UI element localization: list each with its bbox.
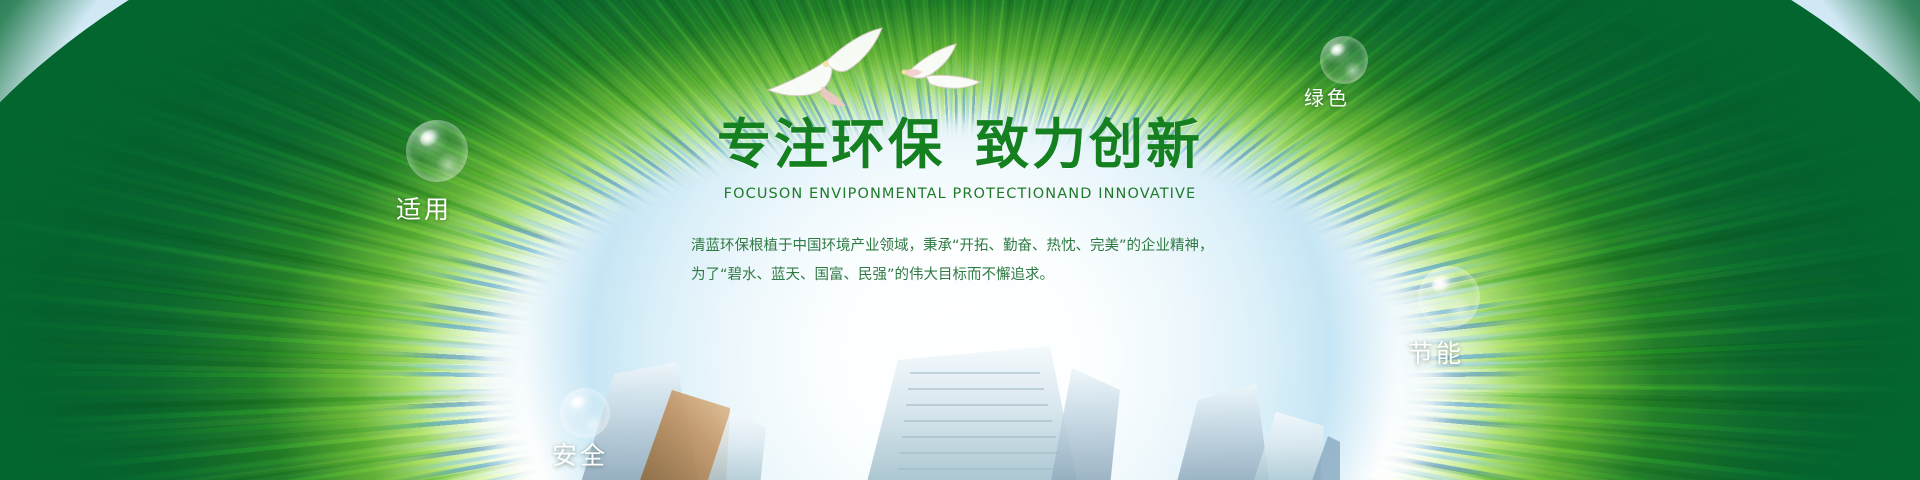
subtitle-english: FOCUSON ENVIPONMENTAL PROTECTIONAND INNO…: [0, 186, 1920, 202]
headline-part-1: 专注环保: [717, 113, 945, 176]
bubble-icon-safety: [560, 388, 610, 438]
feature-green: 绿色: [1320, 36, 1368, 84]
bubble-label-safety: 安全: [552, 436, 608, 472]
bubble-label-suitable: 适用: [396, 190, 452, 226]
feature-safety: 安全: [560, 388, 610, 438]
bubble-label-energy-saving: 节能: [1408, 334, 1464, 370]
bubble-icon-suitable: [406, 120, 468, 182]
feature-energy-saving: 节能: [1418, 266, 1480, 328]
description-paragraph: 清蓝环保根植于中国环境产业领域，秉承“开拓、勤奋、热忱、完美”的企业精神， 为了…: [669, 232, 1251, 290]
feature-suitable: 适用: [406, 120, 468, 182]
environment-banner: 专注环保致力创新 FOCUSON ENVIPONMENTAL PROTECTIO…: [0, 0, 1920, 480]
copy-block: 专注环保致力创新 FOCUSON ENVIPONMENTAL PROTECTIO…: [0, 118, 1920, 290]
bubble-icon-energy-saving: [1418, 266, 1480, 328]
flying-birds: [760, 18, 1000, 118]
description-line-2: 为了“碧水、蓝天、国富、民强”的伟大目标而不懈追求。: [691, 261, 1251, 290]
bubble-icon-green: [1320, 36, 1368, 84]
bubble-label-green: 绿色: [1304, 82, 1350, 111]
description-line-1: 清蓝环保根植于中国环境产业领域，秉承“开拓、勤奋、热忱、完美”的企业精神，: [691, 232, 1251, 261]
page-title: 专注环保致力创新: [0, 118, 1920, 172]
headline-part-2: 致力创新: [975, 113, 1203, 176]
